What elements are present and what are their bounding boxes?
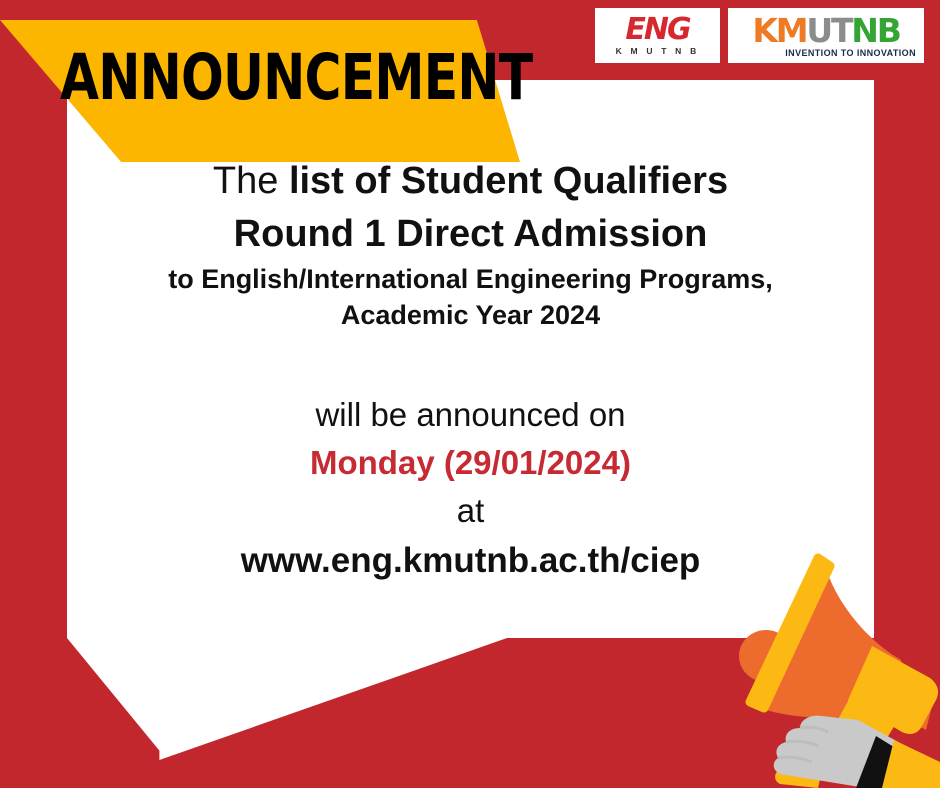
kmutnb-m: M [776,11,807,50]
kmutnb-ut: UT [806,11,851,50]
announcement-banner-label: ANNOUNCEMENT [60,46,532,109]
headline-the: The [213,160,289,202]
announcement-content: The list of Student Qualifiers Round 1 D… [67,155,874,587]
megaphone-illustration [726,548,940,788]
eng-logo-subtitle: K M U T N B [616,46,700,56]
eng-kmutnb-logo: ENG K M U T N B [595,8,720,63]
kmutnb-tagline: INVENTION TO INNOVATION [785,48,918,58]
content-spacer [67,333,874,391]
announcement-poster: ENG K M U T N B KMUTNB INVENTION TO INNO… [0,0,940,788]
headline-qualifiers: list of Student Qualifiers [289,160,728,202]
kmutnb-nb: NB [851,11,899,50]
programs-line: to English/International Engineering Pro… [67,261,874,297]
eng-wordmark: ENG [625,15,689,45]
logo-bar: ENG K M U T N B KMUTNB INVENTION TO INNO… [595,8,924,63]
at-line: at [67,487,874,535]
announce-intro-line: will be announced on [67,391,874,439]
headline-line-2: Round 1 Direct Admission [67,207,874,261]
announcement-date: Monday (29/01/2024) [67,439,874,487]
headline-line-1: The list of Student Qualifiers [67,155,874,207]
kmutnb-wordmark: KMUTNB [752,14,899,47]
kmutnb-k: K [752,11,775,50]
kmutnb-logo: KMUTNB INVENTION TO INNOVATION [728,8,924,63]
academic-year-line: Academic Year 2024 [67,297,874,333]
